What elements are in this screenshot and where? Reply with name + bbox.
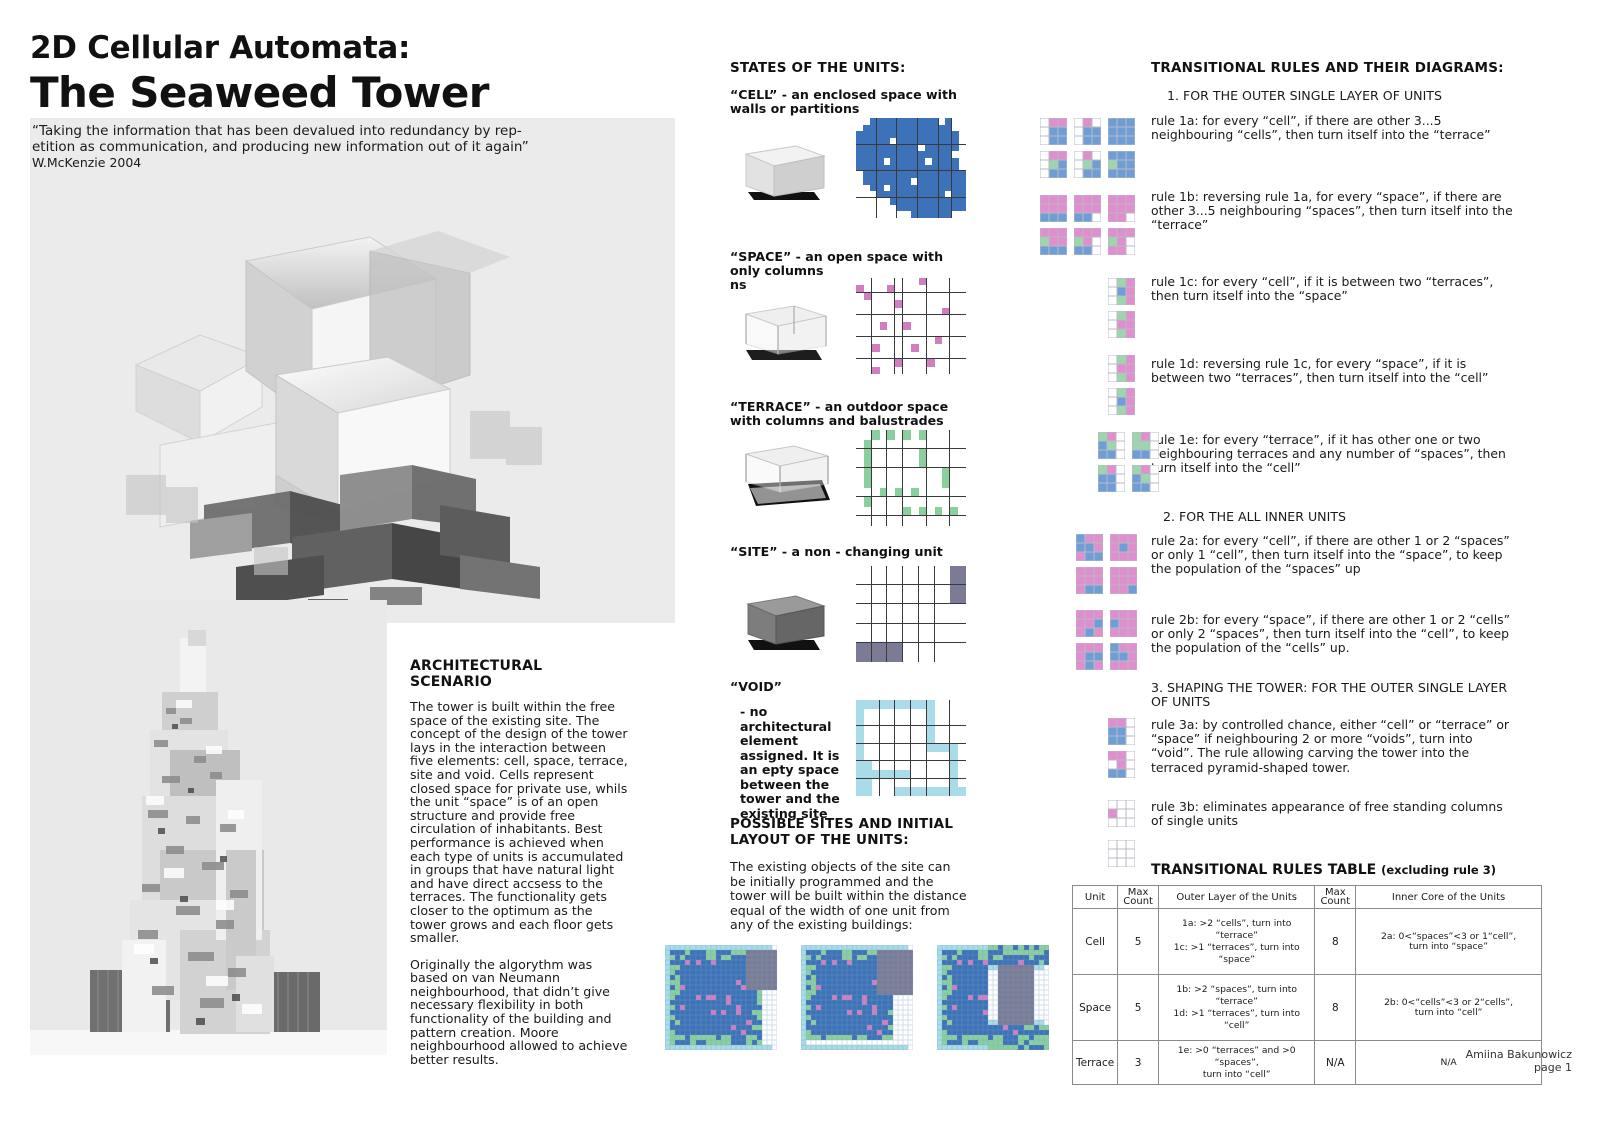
rule-diagram-cell <box>1085 619 1094 628</box>
grid-cell <box>856 352 864 359</box>
rule-diagram-cell <box>1126 355 1135 364</box>
table-row: Space 5 1b: >2 “spaces”, turn into “terr… <box>1073 975 1542 1041</box>
rule-diagram-cell <box>1107 474 1116 483</box>
grid-cell <box>895 614 903 624</box>
rule-diagram-grid <box>1108 751 1135 778</box>
grid-cell <box>942 285 950 292</box>
rule-diagram-cell <box>1076 552 1085 561</box>
grid-cell <box>932 138 939 145</box>
rule-diagram-cell <box>1128 534 1137 543</box>
rule-diagram-cell <box>1108 246 1117 255</box>
grid-cell <box>958 300 966 307</box>
grid-cell <box>880 633 888 643</box>
grid-cell <box>942 585 950 595</box>
grid-cell <box>895 293 903 300</box>
grid-cell <box>903 352 911 359</box>
grid-cell <box>903 779 911 788</box>
rule-diagram-cell <box>1094 534 1103 543</box>
grid-cell <box>863 165 870 172</box>
grid-cell <box>895 770 903 779</box>
rule-diagram-cell <box>1085 643 1094 652</box>
grid-cell <box>872 300 880 307</box>
grid-cell <box>895 761 903 770</box>
rule-diagram-cell <box>1119 552 1128 561</box>
grid-cell <box>911 449 919 459</box>
grid-cell <box>958 595 966 605</box>
rule-diagram-grid <box>1132 432 1159 459</box>
grid-cell <box>856 497 864 507</box>
grid-cell <box>856 700 864 709</box>
grid-cell <box>958 726 966 735</box>
grid-cell <box>904 131 911 138</box>
grid-cell <box>856 459 864 469</box>
grid-cell <box>863 118 870 125</box>
rule-3a-text: rule 3a: by controlled chance, either “c… <box>1151 718 1516 775</box>
grid-cell <box>895 430 903 440</box>
grid-cell <box>959 158 966 165</box>
grid-cell <box>895 308 903 315</box>
rule-diagram-cell <box>1108 127 1117 136</box>
grid-cell <box>919 652 927 662</box>
grid-cell <box>958 344 966 351</box>
grid-cell <box>864 330 872 337</box>
grid-cell <box>887 488 895 498</box>
grid-cell <box>856 735 864 744</box>
rule-diagram-cell <box>1117 160 1126 169</box>
grid-cell <box>877 165 884 172</box>
grid-cell <box>925 138 932 145</box>
grid-cell <box>872 278 880 285</box>
grid-cell <box>950 566 958 576</box>
grid-cell <box>945 158 952 165</box>
rule-diagram-cell <box>1117 736 1126 745</box>
rule-diagram-cell <box>1126 329 1135 338</box>
rule-diagram-cell <box>1076 567 1085 576</box>
rule-diagram-cell <box>1126 397 1135 406</box>
grid-cell <box>935 352 943 359</box>
grid-cell <box>856 430 864 440</box>
grid-cell <box>872 787 880 796</box>
cube-solid-icon <box>740 138 830 206</box>
grid-cell <box>887 700 895 709</box>
rule-1a-text: rule 1a: for every “cell”, if there are … <box>1151 114 1511 142</box>
grid-cell <box>919 367 927 374</box>
rule-diagram-grid <box>1040 195 1067 222</box>
site-pattern-grid <box>856 566 966 662</box>
grid-cell <box>919 322 927 329</box>
grid-cell <box>890 165 897 172</box>
grid-cell <box>935 652 943 662</box>
grid-cell <box>864 761 872 770</box>
grid-cell <box>887 643 895 653</box>
grid-cell <box>935 440 943 450</box>
grid-cell <box>872 308 880 315</box>
rule-diagram-cell <box>1083 136 1092 145</box>
grid-cell <box>919 752 927 761</box>
grid-cell <box>935 278 943 285</box>
grid-cell <box>950 293 958 300</box>
grid-cell <box>895 779 903 788</box>
plan-cell <box>908 1045 913 1050</box>
grid-cell <box>872 497 880 507</box>
rule-diagram-grid <box>1040 151 1067 178</box>
rule-diagram-cell <box>1076 576 1085 585</box>
grid-cell <box>872 516 880 526</box>
rule-diagram-cell <box>1092 118 1101 127</box>
grid-cell <box>927 430 935 440</box>
grid-cell <box>864 700 872 709</box>
grid-cell <box>927 604 935 614</box>
grid-cell <box>945 185 952 192</box>
grid-cell <box>911 787 919 796</box>
rule-diagram-cell <box>1074 118 1083 127</box>
rule-diagram-cell <box>1094 661 1103 670</box>
grid-cell <box>887 344 895 351</box>
grid-cell <box>935 700 943 709</box>
grid-cell <box>877 145 884 152</box>
grid-cell <box>927 700 935 709</box>
rule-diagram-cell <box>1094 552 1103 561</box>
grid-cell <box>903 449 911 459</box>
grid-cell <box>919 643 927 653</box>
rule-diagram-cell <box>1108 388 1117 397</box>
grid-cell <box>887 293 895 300</box>
grid-cell <box>864 293 872 300</box>
grid-cell <box>919 359 927 366</box>
rule-diagram-cell <box>1117 329 1126 338</box>
grid-cell <box>942 717 950 726</box>
grid-cell <box>863 145 870 152</box>
grid-cell <box>932 185 939 192</box>
grid-cell <box>911 158 918 165</box>
rules-table-title-suffix: (excluding rule 3) <box>1381 863 1496 877</box>
grid-cell <box>864 643 872 653</box>
grid-cell <box>945 178 952 185</box>
rule-diagram-cell <box>1108 769 1117 778</box>
grid-cell <box>863 185 870 192</box>
grid-cell <box>856 125 863 132</box>
grid-cell <box>863 125 870 132</box>
unit-subcaption-void: - no architectural element assigned. It … <box>740 705 840 821</box>
grid-cell <box>903 595 911 605</box>
grid-cell <box>887 709 895 718</box>
grid-cell <box>950 440 958 450</box>
grid-cell <box>911 131 918 138</box>
grid-cell <box>880 726 888 735</box>
rule-diagram-cell <box>1117 296 1126 305</box>
grid-cell <box>911 488 919 498</box>
arch-paragraph-1: The tower is built within the free space… <box>410 700 628 945</box>
grid-cell <box>877 171 884 178</box>
grid-cell <box>872 566 880 576</box>
rule-diagram-cell <box>1085 576 1094 585</box>
grid-cell <box>950 449 958 459</box>
grid-cell <box>856 145 863 152</box>
grid-cell <box>942 735 950 744</box>
grid-cell <box>872 652 880 662</box>
rule-1c-text: rule 1c: for every “cell”, if it is betw… <box>1151 275 1506 303</box>
rule-diagram-cell <box>1108 727 1117 736</box>
grid-cell <box>958 285 966 292</box>
grid-cell <box>950 761 958 770</box>
rule-diagram-cell <box>1076 652 1085 661</box>
grid-cell <box>950 430 958 440</box>
grid-cell <box>887 752 895 761</box>
plan-cell <box>772 1045 777 1050</box>
grid-cell <box>939 205 946 212</box>
grid-cell <box>919 488 927 498</box>
grid-cell <box>942 787 950 796</box>
space-outer-rules: 1b: >2 “spaces”, turn into “terrace” 1d:… <box>1158 975 1314 1041</box>
grid-cell <box>904 171 911 178</box>
grid-cell <box>864 585 872 595</box>
rule-diagram-cell <box>1126 246 1135 255</box>
grid-cell <box>958 497 966 507</box>
rule-diagram-cell <box>1119 643 1128 652</box>
grid-cell <box>939 165 946 172</box>
grid-cell <box>872 744 880 753</box>
rule-diagram-cell <box>1040 160 1049 169</box>
grid-cell <box>958 761 966 770</box>
grid-cell <box>856 787 864 796</box>
rule-diagram-cell <box>1128 552 1137 561</box>
grid-cell <box>942 726 950 735</box>
grid-cell <box>935 566 943 576</box>
grid-cell <box>950 787 958 796</box>
rule-diagram-cell <box>1074 213 1083 222</box>
grid-cell <box>880 652 888 662</box>
grid-cell <box>880 576 888 586</box>
grid-cell <box>935 717 943 726</box>
grid-cell <box>864 566 872 576</box>
rule-diagram-cell <box>1058 151 1067 160</box>
grid-cell <box>903 585 911 595</box>
grid-cell <box>903 507 911 517</box>
grid-cell <box>856 315 864 322</box>
th-unit: Unit <box>1073 886 1118 909</box>
rule-diagram-cell <box>1040 118 1049 127</box>
grid-cell <box>887 449 895 459</box>
grid-cell <box>856 633 864 643</box>
grid-cell <box>927 787 935 796</box>
rule-diagram-cell <box>1076 543 1085 552</box>
grid-cell <box>942 652 950 662</box>
grid-cell <box>856 308 864 315</box>
grid-cell <box>911 178 918 185</box>
rule-diagram-cell <box>1126 287 1135 296</box>
terrace-max-outer: 3 <box>1118 1041 1159 1085</box>
grid-cell <box>935 300 943 307</box>
rule-diagram-cell <box>1074 151 1083 160</box>
grid-cell <box>911 459 919 469</box>
grid-cell <box>880 337 888 344</box>
rule-diagram-cell <box>1117 228 1126 237</box>
grid-cell <box>872 735 880 744</box>
grid-cell <box>872 488 880 498</box>
grid-cell <box>927 468 935 478</box>
grid-cell <box>872 430 880 440</box>
rule-diagram-cell <box>1108 406 1117 415</box>
grid-cell <box>856 198 863 205</box>
rule-diagram-cell <box>1058 118 1067 127</box>
rule-diagram-cell <box>1092 151 1101 160</box>
grid-cell <box>880 624 888 634</box>
grid-cell <box>890 145 897 152</box>
grid-cell <box>950 468 958 478</box>
cube-terrace-icon <box>738 440 838 512</box>
grid-cell <box>903 478 911 488</box>
grid-cell <box>904 185 911 192</box>
grid-cell <box>904 125 911 132</box>
grid-cell <box>959 185 966 192</box>
grid-cell <box>890 118 897 125</box>
grid-cell <box>856 726 864 735</box>
grid-cell <box>877 191 884 198</box>
grid-cell <box>880 709 888 718</box>
table-row: Cell 5 1a: >2 “cells”, turn into “terrac… <box>1073 909 1542 975</box>
grid-cell <box>919 330 927 337</box>
grid-cell <box>927 459 935 469</box>
rule-diagram-cell <box>1092 204 1101 213</box>
grid-cell <box>887 624 895 634</box>
grid-cell <box>939 138 946 145</box>
grid-cell <box>897 205 904 212</box>
grid-cell <box>932 198 939 205</box>
rule-diagram-cell <box>1040 213 1049 222</box>
grid-cell <box>856 359 864 366</box>
grid-cell <box>884 205 891 212</box>
rule-diagram-cell <box>1132 432 1141 441</box>
grid-cell <box>911 726 919 735</box>
cell-max-inner: 8 <box>1315 909 1356 975</box>
rules-group-3-heading: 3. SHAPING THE TOWER: FOR THE OUTER SING… <box>1151 681 1509 709</box>
rule-diagram-cell <box>1094 543 1103 552</box>
rule-diagram-cell <box>1049 169 1058 178</box>
grid-cell <box>895 604 903 614</box>
rule-diagram-cell <box>1110 628 1119 637</box>
grid-cell <box>919 717 927 726</box>
rule-diagram-cell <box>1141 450 1150 459</box>
grid-cell <box>945 198 952 205</box>
grid-cell <box>895 516 903 526</box>
rule-diagram-cell <box>1108 397 1117 406</box>
grid-cell <box>935 497 943 507</box>
grid-cell <box>911 624 919 634</box>
grid-cell <box>942 643 950 653</box>
grid-cell <box>903 293 911 300</box>
grid-cell <box>942 624 950 634</box>
grid-cell <box>903 614 911 624</box>
grid-cell <box>958 735 966 744</box>
rule-diagram-cell <box>1110 567 1119 576</box>
rule-diagram-cell <box>1117 311 1126 320</box>
grid-cell <box>925 178 932 185</box>
grid-cell <box>958 468 966 478</box>
grid-cell <box>935 633 943 643</box>
th-inner-core: Inner Core of the Units <box>1356 886 1542 909</box>
grid-cell <box>863 131 870 138</box>
grid-cell <box>945 151 952 158</box>
grid-cell <box>856 468 864 478</box>
grid-cell <box>919 787 927 796</box>
grid-cell <box>958 449 966 459</box>
grid-cell <box>950 595 958 605</box>
grid-cell <box>919 770 927 779</box>
grid-cell <box>911 497 919 507</box>
rule-diagram-cell <box>1119 543 1128 552</box>
rule-diagram-cell <box>1049 237 1058 246</box>
grid-cell <box>919 459 927 469</box>
rule-diagram-cell <box>1076 643 1085 652</box>
grid-cell <box>911 308 919 315</box>
grid-cell <box>904 165 911 172</box>
grid-cell <box>897 151 904 158</box>
grid-cell <box>958 566 966 576</box>
grid-cell <box>880 308 888 315</box>
grid-cell <box>856 566 864 576</box>
rule-diagram-cell <box>1128 661 1137 670</box>
grid-cell <box>942 633 950 643</box>
grid-cell <box>919 735 927 744</box>
grid-cell <box>942 440 950 450</box>
grid-cell <box>856 185 863 192</box>
rule-diagram-cell <box>1083 213 1092 222</box>
grid-cell <box>950 322 958 329</box>
grid-cell <box>925 145 932 152</box>
grid-cell <box>880 585 888 595</box>
rule-2a-text: rule 2a: for every “cell”, if there are … <box>1151 534 1523 577</box>
grid-cell <box>911 643 919 653</box>
grid-cell <box>856 165 863 172</box>
grid-cell <box>935 604 943 614</box>
grid-cell <box>911 300 919 307</box>
grid-cell <box>870 118 877 125</box>
grid-cell <box>942 344 950 351</box>
grid-cell <box>856 178 863 185</box>
grid-cell <box>864 352 872 359</box>
rule-diagram-cell <box>1074 169 1083 178</box>
rule-diagram-cell <box>1049 151 1058 160</box>
grid-cell <box>911 145 918 152</box>
grid-cell <box>911 138 918 145</box>
grid-cell <box>939 185 946 192</box>
grid-cell <box>918 191 925 198</box>
grid-cell <box>919 300 927 307</box>
rule-diagram-cell <box>1117 769 1126 778</box>
grid-cell <box>903 652 911 662</box>
rule-diagram-cell <box>1117 800 1126 809</box>
grid-cell <box>919 576 927 586</box>
grid-cell <box>939 198 946 205</box>
grid-cell <box>903 770 911 779</box>
rule-diagram-cell <box>1126 718 1135 727</box>
grid-cell <box>958 352 966 359</box>
rule-diagram-cell <box>1119 576 1128 585</box>
grid-cell <box>927 344 935 351</box>
grid-cell <box>950 330 958 337</box>
grid-cell <box>919 624 927 634</box>
grid-cell <box>942 700 950 709</box>
grid-cell <box>872 315 880 322</box>
rule-diagram-cell <box>1058 127 1067 136</box>
rule-diagram-cell <box>1150 450 1159 459</box>
grid-cell <box>927 449 935 459</box>
grid-cell <box>939 145 946 152</box>
grid-cell <box>911 285 919 292</box>
rule-diagram-cell <box>1074 195 1083 204</box>
rule-diagram-cell <box>1049 204 1058 213</box>
grid-cell <box>935 315 943 322</box>
